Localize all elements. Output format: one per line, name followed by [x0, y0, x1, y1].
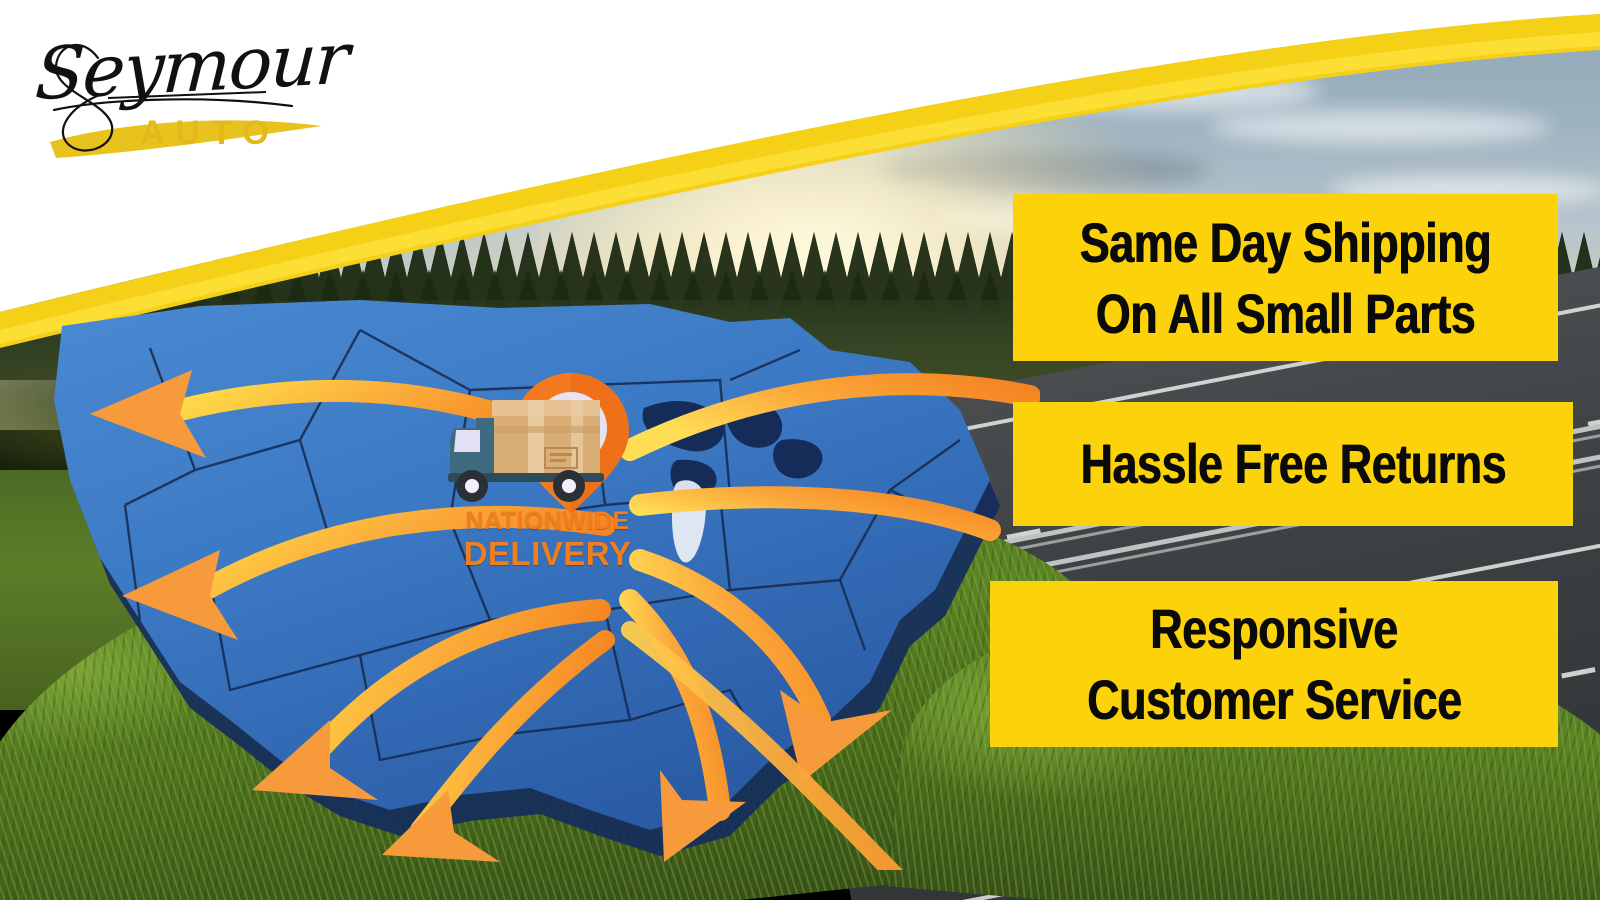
panel-line: Hassle Free Returns — [1080, 433, 1506, 495]
nationwide-line: NATIONWIDE — [440, 506, 655, 536]
panel-line: Same Day Shipping — [1080, 207, 1491, 278]
nationwide-delivery-label: NATIONWIDE DELIVERY — [440, 506, 655, 572]
responsive-customer-service-panel[interactable]: Responsive Customer Service — [990, 581, 1558, 747]
promotional-banner: NATIONWIDE DELIVERY Same Day Shipping On… — [0, 0, 1600, 900]
panel-line: Customer Service — [1087, 664, 1462, 735]
cardboard-box-icon — [492, 400, 600, 476]
logo-wordmark: Seymour — [33, 16, 350, 116]
panel-line: On All Small Parts — [1096, 278, 1476, 349]
seymour-auto-logo[interactable]: Seymour AUTO — [30, 18, 340, 168]
panel-line: Responsive — [1150, 593, 1397, 664]
same-day-shipping-panel[interactable]: Same Day Shipping On All Small Parts — [1013, 194, 1558, 361]
delivery-line: DELIVERY — [440, 536, 655, 572]
logo-subtext: AUTO — [140, 114, 280, 153]
hassle-free-returns-panel[interactable]: Hassle Free Returns — [1013, 402, 1573, 526]
nationwide-delivery-badge: NATIONWIDE DELIVERY — [440, 368, 670, 588]
